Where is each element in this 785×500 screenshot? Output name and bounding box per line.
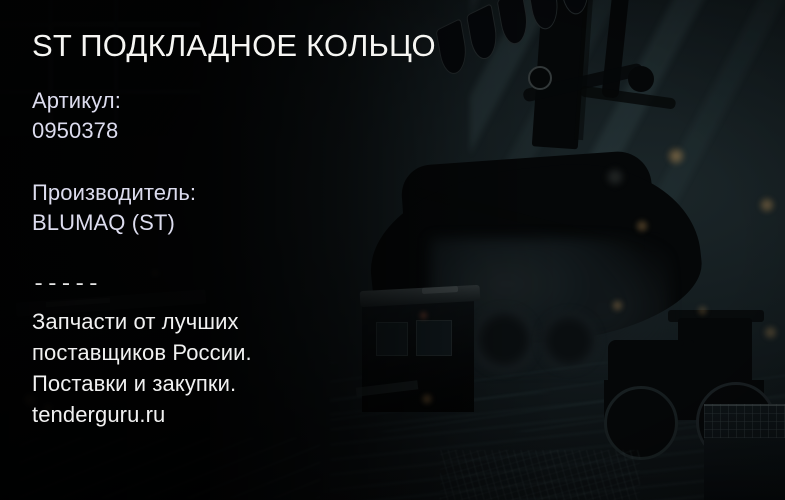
excavator-linkage-arm <box>522 62 644 102</box>
banner-content: ST ПОДКЛАДНОЕ КОЛЬЦО Артикул: 0950378 Пр… <box>32 0 502 500</box>
bucket-tooth <box>527 0 561 35</box>
bokeh-light <box>634 218 650 234</box>
background-crate <box>704 404 785 500</box>
promo-line: поставщиков России. <box>32 337 252 368</box>
text-separator: ----- <box>32 272 101 298</box>
bokeh-light <box>758 196 776 214</box>
promo-line: Запчасти от лучших <box>32 306 252 337</box>
background-wheel-loader <box>600 318 785 483</box>
excavator-pivot-pin-lower <box>644 232 664 252</box>
article-value: 0950378 <box>32 116 121 146</box>
loader-cab <box>678 318 752 388</box>
loader-body <box>604 380 764 420</box>
excavator-stick-highlight <box>574 0 595 140</box>
background-far-loader-wheel <box>540 312 598 370</box>
bucket-tooth <box>588 0 622 5</box>
product-banner: ST ПОДКЛАДНОЕ КОЛЬЦО Артикул: 0950378 Пр… <box>0 0 785 500</box>
bokeh-light <box>610 298 625 313</box>
bucket-tooth <box>558 0 592 20</box>
background-crate-mesh <box>704 404 785 438</box>
promo-text-block: Запчасти от лучших поставщиков России. П… <box>32 306 252 430</box>
loader-front-wheel <box>604 386 678 460</box>
promo-site-url: tenderguru.ru <box>32 399 252 430</box>
excavator-linkage-arm-secondary <box>580 85 677 109</box>
excavator-hydraulic-cylinder <box>601 0 631 99</box>
loader-rear-wheel <box>696 382 776 462</box>
bokeh-light <box>696 304 709 317</box>
loader-roof <box>668 310 764 322</box>
excavator-pivot-pin-upper <box>528 66 552 90</box>
manufacturer-value: BLUMAQ (ST) <box>32 208 196 238</box>
promo-line: Поставки и закупки. <box>32 368 252 399</box>
loader-hood <box>608 340 694 388</box>
manufacturer-field: Производитель: BLUMAQ (ST) <box>32 178 196 238</box>
manufacturer-label: Производитель: <box>32 178 196 208</box>
bokeh-light <box>762 324 779 341</box>
product-title: ST ПОДКЛАДНОЕ КОЛЬЦО <box>32 28 436 64</box>
bokeh-light <box>604 166 626 188</box>
excavator-pivot-pin-mid <box>628 66 654 92</box>
bokeh-light <box>666 146 686 166</box>
article-label: Артикул: <box>32 86 121 116</box>
loader-hood-highlight <box>614 340 684 346</box>
article-field: Артикул: 0950378 <box>32 86 121 146</box>
excavator-stick <box>532 0 590 149</box>
background-light-rays <box>470 0 785 260</box>
